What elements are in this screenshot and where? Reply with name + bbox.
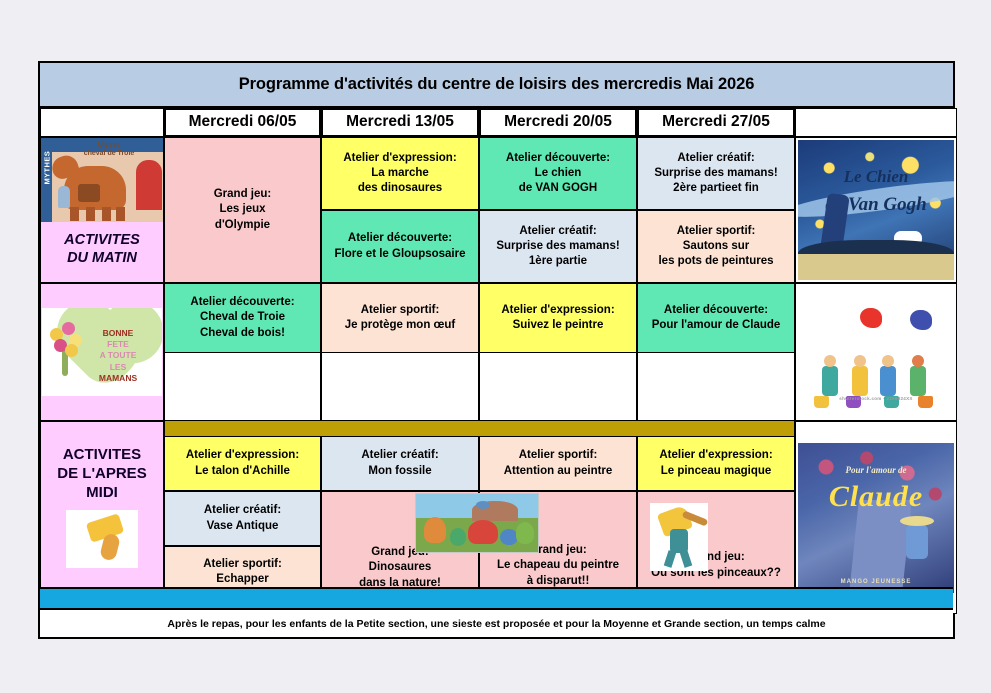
cell-morning-w2-expression: Atelier d'expression: La marche des dino… xyxy=(321,137,479,210)
trojan-horse-shape xyxy=(64,166,126,210)
cell-morning2-w3-expression: Atelier d'expression: Suivez le peintre xyxy=(479,283,637,353)
dinosaurs-scene-image xyxy=(415,493,539,553)
soldier-figure xyxy=(58,186,70,208)
footer-note: Après le repas, pour les enfants de la P… xyxy=(40,610,953,637)
kids-painting-image: shutterstock.com · 2269924XX xyxy=(798,286,954,418)
sidebar-morning-block: MYTHES Ulysse cheval de Troie ACTIVITES … xyxy=(40,137,164,283)
dabbing-paintbrush-icon xyxy=(650,503,708,571)
gap-cell-2 xyxy=(321,353,479,421)
cell-morning-w4-creatif: Atelier créatif: Surprise des mamans! 2è… xyxy=(637,137,795,210)
activity-programme-table: Programme d'activités du centre de loisi… xyxy=(38,61,955,639)
cell-afternoon-w2-creatif: Atelier créatif: Mon fossile xyxy=(321,436,479,491)
cell-morning2-w4-decouverte: Atelier découverte: Pour l'amour de Clau… xyxy=(637,283,795,353)
book-spine: MYTHES xyxy=(40,138,52,222)
column-header-3: Mercredi 20/05 xyxy=(479,108,637,137)
cell-morning-w2-decouverte: Atelier découverte: Flore et le Gloupsos… xyxy=(321,210,479,283)
mothers-day-text: BONNE FETE A TOUTE LES MAMANS xyxy=(82,328,154,384)
cell-afternoon2-w1-creatif: Atelier créatif: Vase Antique xyxy=(164,491,321,546)
book-cover-van-gogh-image: Le Chien de Van Gogh xyxy=(798,140,954,280)
cell-afternoon-w1-expression: Atelier d'expression: Le talon d'Achille xyxy=(164,436,321,491)
cell-morning-w3-decouverte: Atelier découverte: Le chien de VAN GOGH xyxy=(479,137,637,210)
gap-cell-4 xyxy=(637,353,795,421)
column-header-4: Mercredi 27/05 xyxy=(637,108,795,137)
column-header-1: Mercredi 06/05 xyxy=(164,108,321,137)
cell-morning-w1-grandjeu: Grand jeu: Les jeux d'Olympie xyxy=(164,137,321,283)
right-cell-vangogh: Le Chien de Van Gogh xyxy=(795,137,957,283)
right-cell-claude: Pour l'amour de Claude MANGO JEUNESSE xyxy=(795,421,957,614)
sidebar-morning-label: ACTIVITES DU MATIN xyxy=(64,231,140,267)
column-header-2: Mercredi 13/05 xyxy=(321,108,479,137)
sidebar-mothers-day-block: BONNE FETE A TOUTE LES MAMANS xyxy=(40,283,164,421)
sidebar-afternoon-block: ACTIVITES DE L'APRES MIDI xyxy=(40,421,164,614)
cell-afternoon-w3-sportif: Atelier sportif: Attention au peintre xyxy=(479,436,637,491)
footer-blue-band xyxy=(40,587,953,610)
header-corner-cell xyxy=(40,108,164,137)
book-collection-label: MYTHES xyxy=(43,145,52,185)
right-cell-kids-painting: shutterstock.com · 2269924XX xyxy=(795,283,957,421)
cell-morning-w4-sportif: Atelier sportif: Sautons sur les pots de… xyxy=(637,210,795,283)
cell-morning2-w2-sportif: Atelier sportif: Je protège mon œuf xyxy=(321,283,479,353)
troy-wall-shape xyxy=(136,160,162,210)
section-separator-band xyxy=(164,421,795,436)
book-cover-claude-image: Pour l'amour de Claude MANGO JEUNESSE xyxy=(798,443,954,593)
programme-title-banner: Programme d'activités du centre de loisi… xyxy=(40,63,953,108)
screenshot-canvas: Programme d'activités du centre de loisi… xyxy=(0,0,991,693)
sidebar-afternoon-label: ACTIVITES DE L'APRES MIDI xyxy=(57,446,146,502)
cell-afternoon-w4-expression: Atelier d'expression: Le pinceau magique xyxy=(637,436,795,491)
book-cover-ulysse-image: MYTHES Ulysse cheval de Troie xyxy=(40,138,164,222)
gap-cell-3 xyxy=(479,353,637,421)
paintbrush-mascot-icon xyxy=(66,510,138,568)
page-title: Programme d'activités du centre de loisi… xyxy=(239,75,755,94)
image-credit: shutterstock.com · 2269924XX xyxy=(798,396,954,402)
bouquet-shape xyxy=(48,322,82,378)
header-spacer-cell xyxy=(795,108,957,137)
cell-morning-w3-creatif: Atelier créatif: Surprise des mamans! 1è… xyxy=(479,210,637,283)
gap-cell-1 xyxy=(164,353,321,421)
mothers-day-card-image: BONNE FETE A TOUTE LES MAMANS xyxy=(42,308,162,396)
cell-morning2-w1-decouverte: Atelier découverte: Cheval de Troie Chev… xyxy=(164,283,321,353)
